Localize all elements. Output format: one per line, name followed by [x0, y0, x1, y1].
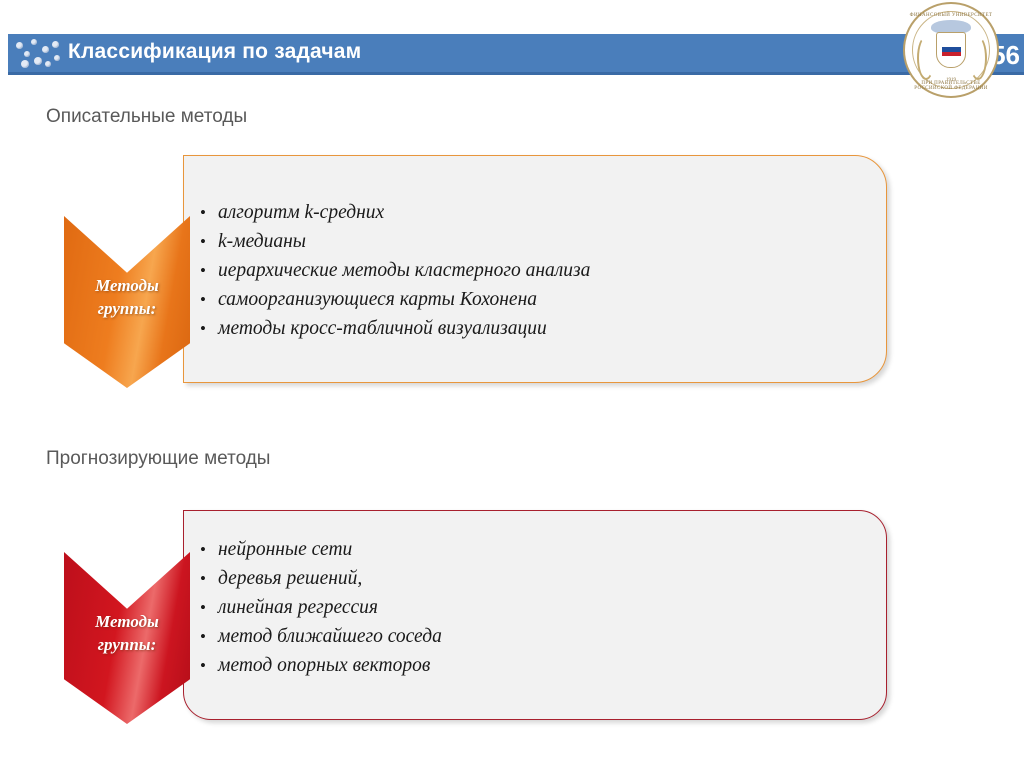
header-underline: [8, 72, 1024, 75]
russian-flag-icon: [942, 43, 961, 56]
list-item: метод опорных векторов: [200, 651, 442, 680]
methods-list-descriptive: алгоритм k-средних k-медианы иерархическ…: [200, 198, 590, 343]
scattered-dots-icon: [14, 35, 64, 73]
list-item: нейронные сети: [200, 535, 442, 564]
university-emblem: ФИНАНСОВЫЙ УНИВЕРСИТЕТ 1919 ПРИ ПРАВИТЕЛ…: [903, 2, 1001, 100]
chevron-badge-predictive: [64, 552, 190, 724]
list-item: самоорганизующиеся карты Кохонена: [200, 285, 590, 314]
section-heading-predictive: Прогнозирующие методы: [46, 448, 270, 470]
emblem-bottom-text: ПРИ ПРАВИТЕЛЬСТВЕ РОССИЙСКОЙ ФЕДЕРАЦИИ: [903, 81, 999, 91]
methods-list-predictive: нейронные сети деревья решений, линейная…: [200, 535, 442, 680]
list-item: деревья решений,: [200, 564, 442, 593]
chevron-badge-descriptive: [64, 216, 190, 388]
list-item: линейная регрессия: [200, 593, 442, 622]
list-item: алгоритм k-средних: [200, 198, 590, 227]
section-heading-descriptive: Описательные методы: [46, 106, 247, 128]
list-item: иерархические методы кластерного анализа: [200, 256, 590, 285]
emblem-shield-icon: [936, 32, 966, 68]
page-title: Классификация по задачам: [68, 40, 361, 64]
emblem-top-text: ФИНАНСОВЫЙ УНИВЕРСИТЕТ: [903, 13, 999, 18]
laurel-right-icon: [969, 36, 987, 80]
list-item: k-медианы: [200, 227, 590, 256]
laurel-left-icon: [917, 36, 935, 80]
slide-header: Классификация по задачам: [0, 34, 1024, 74]
list-item: методы кросс-табличной визуализации: [200, 314, 590, 343]
list-item: метод ближайшего соседа: [200, 622, 442, 651]
